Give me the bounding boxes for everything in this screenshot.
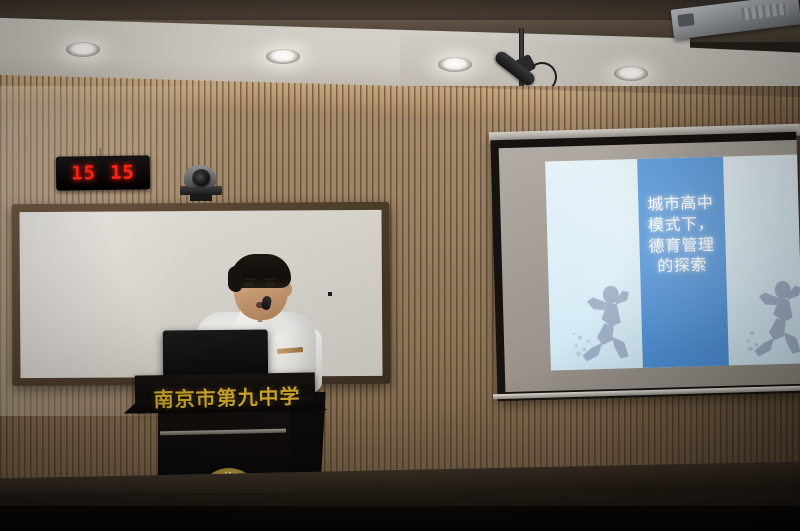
speaker-eyebrow-right	[265, 278, 276, 280]
presentation-slide: 城市高中 模式下， 德育管理 的探索	[545, 155, 800, 371]
downlight-1-icon	[66, 42, 100, 57]
camera-lens-icon	[192, 169, 211, 188]
clock-hours: 15	[71, 162, 96, 184]
digital-wall-clock: 15 15	[56, 155, 150, 190]
whiteboard-mark	[328, 292, 332, 296]
clock-minutes: 15	[110, 162, 135, 184]
camera-arm	[190, 194, 212, 201]
podium-school-name: 南京市第九中学	[138, 380, 317, 413]
speaker-eye-left	[245, 283, 254, 286]
whiteboard-clip	[175, 204, 193, 208]
speaker-hair-side	[228, 266, 242, 292]
downlight-3-icon	[438, 57, 472, 72]
lecture-hall-scene: 15 15	[0, 0, 800, 531]
projector-lens-icon	[677, 13, 694, 27]
projector-vents	[741, 3, 788, 21]
downlight-4-icon	[614, 66, 648, 81]
speaker-eyebrow-left	[244, 278, 255, 280]
speaker-eye-right	[266, 283, 275, 286]
downlight-2-icon	[266, 49, 300, 64]
slide-projection-glow	[545, 155, 800, 371]
stage-floor	[0, 506, 800, 531]
